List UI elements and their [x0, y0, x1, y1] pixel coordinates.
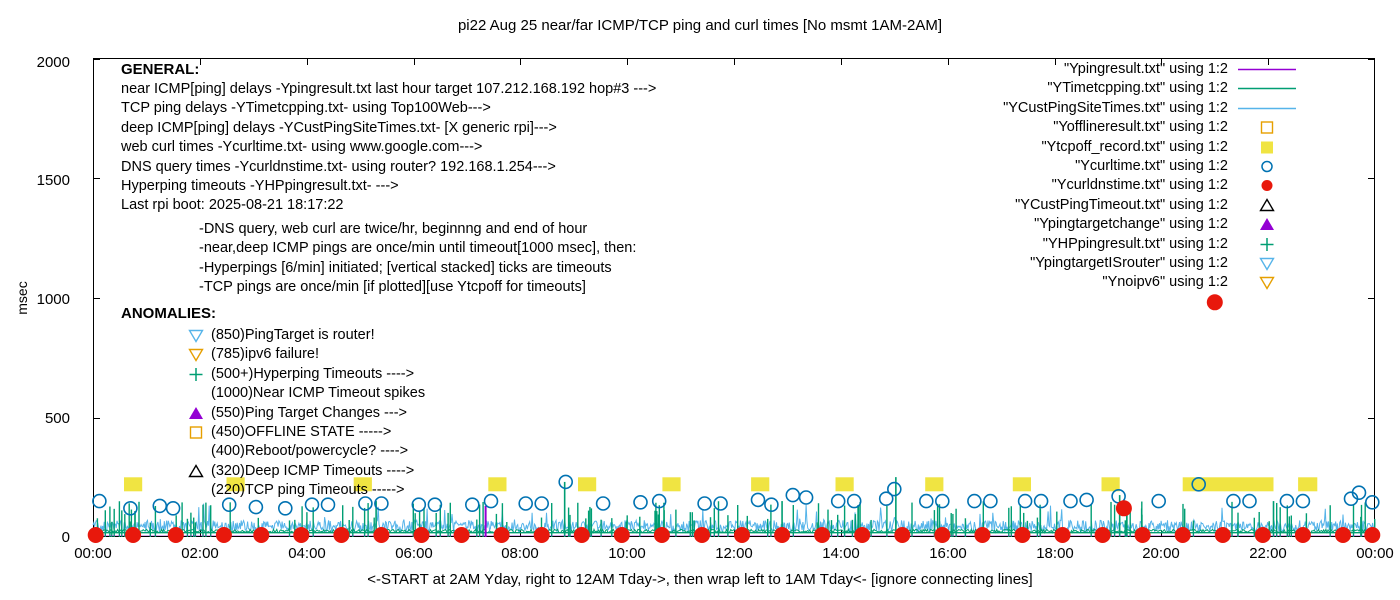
dnstime-point-31 — [1335, 527, 1351, 543]
x-tick-1: 02:00 — [160, 545, 240, 562]
x-tick-8: 16:00 — [908, 545, 988, 562]
anomaly-item-8: (220)TCP ping Timeouts -----> — [183, 481, 425, 500]
general-line-3: web curl times -Ycurltime.txt- using www… — [121, 138, 656, 157]
triangle-down-open-orange-icon — [1234, 273, 1300, 292]
tcpoff-bar-4 — [578, 477, 596, 491]
dnstime-point-22 — [974, 527, 990, 543]
dnstime-point-1 — [125, 527, 141, 543]
general-line-6: Last rpi boot: 2025-08-21 18:17:22 — [121, 196, 656, 215]
anomaly-label: (220)TCP ping Timeouts -----> — [211, 481, 405, 500]
dnstime-point-25 — [1095, 527, 1111, 543]
anomaly-label: (450)OFFLINE STATE -----> — [211, 423, 391, 442]
tcpoff-bar-3 — [488, 477, 506, 491]
legend-item-2: "YCustPingSiteTimes.txt" using 1:2 — [940, 99, 1300, 118]
general-line-1: TCP ping delays -YTimetcpping.txt- using… — [121, 99, 656, 118]
general-indent-line-1: -near,deep ICMP pings are once/min until… — [199, 239, 636, 258]
triangle-down-open-orange-icon — [183, 345, 209, 364]
plus-teal-icon — [183, 365, 209, 384]
dnstime-point-12 — [574, 527, 590, 543]
curltime-point-37 — [1064, 495, 1077, 508]
y-tick-0: 0 — [8, 529, 70, 546]
tcpoff-bar-11 — [1183, 477, 1274, 491]
dnstime-point-30 — [1295, 527, 1311, 543]
dnstime-point-14 — [654, 527, 670, 543]
legend-label: "Yofflineresult.txt" using 1:2 — [1053, 119, 1228, 135]
legend-label: "YTimetcpping.txt" using 1:2 — [1047, 80, 1228, 96]
curltime-point-35 — [1019, 495, 1032, 508]
anomaly-label: (850)PingTarget is router! — [211, 326, 375, 345]
x-tick-12: 00:00 — [1335, 545, 1400, 562]
dnstime-point-2 — [168, 527, 184, 543]
tcpoff-bar-9 — [1013, 477, 1031, 491]
curltime-point-31 — [920, 495, 933, 508]
curltime-point-21 — [698, 497, 711, 510]
curltime-point-12 — [428, 498, 441, 511]
curltime-point-34 — [984, 495, 997, 508]
general-indent-line-2: -Hyperpings [6/min] initiated; [vertical… — [199, 259, 636, 278]
dnstime-point-23 — [1014, 527, 1030, 543]
curltime-point-45 — [1296, 495, 1309, 508]
anomaly-item-4: (550)Ping Target Changes ---> — [183, 404, 425, 423]
legend-item-9: "YHPpingresult.txt" using 1:2 — [940, 235, 1300, 254]
curltime-point-2 — [153, 499, 166, 512]
tcpoff-bar-12 — [1298, 477, 1317, 491]
dnstime-point-7 — [373, 527, 389, 543]
curltime-point-18 — [597, 497, 610, 510]
triangle-down-open-lightblue-icon — [1234, 254, 1300, 273]
plus-teal-icon — [1234, 235, 1300, 254]
legend-item-1: "YTimetcpping.txt" using 1:2 — [940, 79, 1300, 98]
square-filled-yellow-icon — [1234, 138, 1300, 157]
y-tick-500: 500 — [8, 410, 70, 427]
x-tick-10: 20:00 — [1121, 545, 1201, 562]
square-open-orange-icon — [183, 423, 209, 442]
line-skyblue-icon — [1234, 99, 1300, 118]
x-tick-2: 04:00 — [267, 545, 347, 562]
dnstime-point-13 — [614, 527, 630, 543]
dnstime-point-8 — [414, 527, 430, 543]
legend-label: "YCustPingSiteTimes.txt" using 1:2 — [1003, 100, 1228, 116]
curltime-point-38 — [1080, 493, 1093, 506]
general-indented-block: -DNS query, web curl are twice/hr, begin… — [199, 220, 636, 298]
anomaly-no-icon — [183, 481, 209, 500]
legend-label: "YHPpingresult.txt" using 1:2 — [1043, 236, 1228, 252]
line-teal-icon — [1234, 79, 1300, 98]
curltime-point-13 — [466, 498, 479, 511]
anomaly-label: (1000)Near ICMP Timeout spikes — [211, 384, 425, 403]
tcpoff-bar-8 — [925, 477, 943, 491]
chart-title: pi22 Aug 25 near/far ICMP/TCP ping and c… — [0, 17, 1400, 34]
anomalies-annotation-block: ANOMALIES: (850)PingTarget is router!(78… — [121, 304, 425, 501]
general-line-2: deep ICMP[ping] delays -YCustPingSiteTim… — [121, 119, 656, 138]
curltime-point-0 — [93, 495, 106, 508]
legend-item-5: "Ycurltime.txt" using 1:2 — [940, 157, 1300, 176]
dnstime-point-16 — [734, 527, 750, 543]
curltime-point-40 — [1152, 495, 1165, 508]
general-indent-line-3: -TCP pings are once/min [if plotted][use… — [199, 278, 636, 297]
curltime-point-42 — [1227, 495, 1240, 508]
curltime-point-26 — [800, 491, 813, 504]
triangle-down-open-lightblue-icon — [183, 326, 209, 345]
triangle-up-open-black-icon — [1234, 196, 1300, 215]
y-tick-1000: 1000 — [8, 291, 70, 308]
dnstime-point-32 — [1364, 527, 1380, 543]
general-annotation-block: GENERAL: near ICMP[ping] delays -Ypingre… — [121, 60, 656, 216]
dnstime-point-4 — [253, 527, 269, 543]
general-line-0: near ICMP[ping] delays -Ypingresult.txt … — [121, 80, 656, 99]
curltime-point-36 — [1035, 495, 1048, 508]
curltime-point-28 — [848, 495, 861, 508]
general-heading: GENERAL: — [121, 60, 656, 80]
dnstime-point-18 — [814, 527, 830, 543]
anomaly-item-6: (400)Reboot/powercycle? ----> — [183, 442, 425, 461]
curltime-point-1 — [124, 502, 137, 515]
anomaly-label: (785)ipv6 failure! — [211, 345, 319, 364]
dnstime-point-29 — [1255, 527, 1271, 543]
curltime-point-22 — [714, 497, 727, 510]
curltime-point-43 — [1243, 495, 1256, 508]
general-indent-line-0: -DNS query, web curl are twice/hr, begin… — [199, 220, 636, 239]
dnstime-point-26 — [1135, 527, 1151, 543]
legend-item-6: "Ycurldnstime.txt" using 1:2 — [940, 176, 1300, 195]
y-tick-1500: 1500 — [8, 172, 70, 189]
tcpoff-bar-5 — [662, 477, 680, 491]
curltime-point-27 — [832, 495, 845, 508]
x-tick-6: 12:00 — [694, 545, 774, 562]
curltime-point-6 — [279, 502, 292, 515]
tcpoff-bar-6 — [751, 477, 769, 491]
curltime-point-23 — [752, 493, 765, 506]
anomaly-item-5: (450)OFFLINE STATE -----> — [183, 423, 425, 442]
legend-label: "YCustPingTimeout.txt" using 1:2 — [1015, 197, 1228, 213]
triangle-up-filled-purple-icon — [183, 404, 209, 423]
circle-filled-red-icon — [1234, 176, 1300, 195]
dnstime-outlier-0 — [1207, 294, 1223, 310]
legend-label: "Ycurltime.txt" using 1:2 — [1075, 158, 1228, 174]
anomaly-label: (400)Reboot/powercycle? ----> — [211, 442, 408, 461]
curltime-point-19 — [634, 496, 647, 509]
curltime-point-14 — [485, 495, 498, 508]
chart-canvas: pi22 Aug 25 near/far ICMP/TCP ping and c… — [0, 0, 1400, 600]
legend-label: "Ynoipv6" using 1:2 — [1102, 274, 1228, 290]
curltime-point-48 — [1366, 496, 1379, 509]
triangle-up-filled-purple-icon — [1234, 215, 1300, 234]
legend-label: "Ycurldnstime.txt" using 1:2 — [1052, 177, 1228, 193]
legend-label: "Ypingtargetchange" using 1:2 — [1034, 216, 1228, 232]
dnstime-point-27 — [1175, 527, 1191, 543]
legend: "Ypingresult.txt" using 1:2"YTimetcpping… — [940, 60, 1300, 293]
x-tick-5: 10:00 — [587, 545, 667, 562]
x-tick-0: 00:00 — [53, 545, 133, 562]
anomaly-no-icon — [183, 442, 209, 461]
legend-item-8: "Ypingtargetchange" using 1:2 — [940, 215, 1300, 234]
dnstime-point-0 — [88, 527, 104, 543]
legend-label: "Ypingresult.txt" using 1:2 — [1064, 61, 1228, 77]
anomaly-item-1: (785)ipv6 failure! — [183, 345, 425, 364]
anomaly-item-7: (320)Deep ICMP Timeouts ----> — [183, 462, 425, 481]
legend-item-11: "Ynoipv6" using 1:2 — [940, 273, 1300, 292]
legend-label: "YpingtargetISrouter" using 1:2 — [1030, 255, 1228, 271]
circle-open-blue-icon — [1234, 157, 1300, 176]
dnstime-point-10 — [494, 527, 510, 543]
x-tick-11: 22:00 — [1228, 545, 1308, 562]
anomaly-item-2: (500+)Hyperping Timeouts ----> — [183, 365, 425, 384]
curltime-point-15 — [519, 497, 532, 510]
dnstime-point-17 — [774, 527, 790, 543]
curltime-point-33 — [968, 495, 981, 508]
dnstime-point-3 — [216, 527, 232, 543]
x-axis-caption: <-START at 2AM Yday, right to 12AM Tday-… — [0, 571, 1400, 588]
x-tick-9: 18:00 — [1015, 545, 1095, 562]
curltime-point-16 — [535, 497, 548, 510]
dnstime-point-5 — [293, 527, 309, 543]
anomaly-item-0: (850)PingTarget is router! — [183, 326, 425, 345]
dnstime-point-28 — [1215, 527, 1231, 543]
dnstime-point-9 — [454, 527, 470, 543]
square-open-orange-icon — [1234, 118, 1300, 137]
legend-item-4: "Ytcpoff_record.txt" using 1:2 — [940, 138, 1300, 157]
general-line-4: DNS query times -Ycurldnstime.txt- using… — [121, 158, 656, 177]
dnstime-point-11 — [534, 527, 550, 543]
legend-item-10: "YpingtargetISrouter" using 1:2 — [940, 254, 1300, 273]
y-tick-2000: 2000 — [8, 54, 70, 71]
anomaly-label: (320)Deep ICMP Timeouts ----> — [211, 462, 414, 481]
tcpoff-bar-7 — [836, 477, 854, 491]
curltime-point-30 — [888, 483, 901, 496]
curltime-point-17 — [559, 475, 572, 488]
x-tick-3: 06:00 — [374, 545, 454, 562]
legend-item-3: "Yofflineresult.txt" using 1:2 — [940, 118, 1300, 137]
dnstime-point-20 — [894, 527, 910, 543]
x-tick-4: 08:00 — [480, 545, 560, 562]
curltime-point-25 — [786, 489, 799, 502]
anomaly-no-icon — [183, 384, 209, 403]
dnstime-point-24 — [1055, 527, 1071, 543]
dnstime-point-6 — [333, 527, 349, 543]
triangle-up-open-black-icon — [183, 462, 209, 481]
anomalies-heading: ANOMALIES: — [121, 304, 425, 326]
line-purple-icon — [1234, 60, 1300, 79]
curltime-point-32 — [936, 495, 949, 508]
anomaly-label: (550)Ping Target Changes ---> — [211, 404, 407, 423]
legend-item-7: "YCustPingTimeout.txt" using 1:2 — [940, 196, 1300, 215]
anomaly-label: (500+)Hyperping Timeouts ----> — [211, 365, 414, 384]
curltime-point-5 — [249, 501, 262, 514]
dnstime-outlier-1 — [1116, 500, 1132, 516]
legend-item-0: "Ypingresult.txt" using 1:2 — [940, 60, 1300, 79]
dnstime-point-15 — [694, 527, 710, 543]
general-line-5: Hyperping timeouts -YHPpingresult.txt- -… — [121, 177, 656, 196]
anomaly-list: (850)PingTarget is router!(785)ipv6 fail… — [121, 326, 425, 501]
curltime-point-3 — [167, 502, 180, 515]
anomaly-item-3: (1000)Near ICMP Timeout spikes — [183, 384, 425, 403]
dnstime-point-21 — [934, 527, 950, 543]
x-tick-7: 14:00 — [801, 545, 881, 562]
dnstime-point-19 — [854, 527, 870, 543]
legend-label: "Ytcpoff_record.txt" using 1:2 — [1041, 139, 1228, 155]
